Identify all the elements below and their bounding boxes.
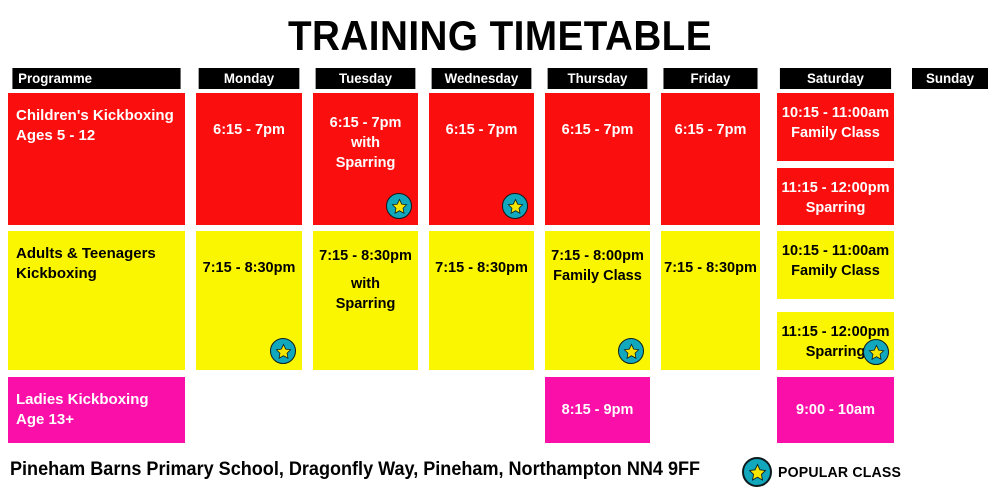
class-cell-adults-friday[interactable]: 7:15 - 8:30pm	[661, 231, 760, 370]
venue-address: Pineham Barns Primary School, Dragonfly …	[10, 458, 700, 482]
row-label-ladies-line1: Ladies Kickboxing	[16, 390, 185, 410]
row-label-adults-line2: Kickboxing	[16, 264, 185, 284]
class-time: 7:15 - 8:30pm	[661, 258, 760, 278]
timetable-grid: Programme Monday Tuesday Wednesday Thurs…	[0, 0, 1000, 500]
class-cell-adults-monday[interactable]: 7:15 - 8:30pm	[196, 231, 302, 370]
class-note1: with	[313, 133, 418, 153]
class-cell-children-friday[interactable]: 6:15 - 7pm	[661, 93, 760, 225]
popular-class-legend-label: POPULAR CLASS	[778, 464, 901, 481]
class-time: 7:15 - 8:30pm	[196, 258, 302, 278]
class-time: 6:15 - 7pm	[545, 120, 650, 140]
timetable-page: TRAINING TIMETABLE Programme Monday Tues…	[0, 0, 1000, 500]
column-header-tuesday: Tuesday	[316, 68, 416, 89]
popular-class-legend: POPULAR CLASS	[742, 457, 909, 487]
class-note1: Family Class	[545, 266, 650, 286]
class-note2: Sparring	[313, 294, 418, 314]
class-note1: with	[313, 274, 418, 294]
row-label-ladies: Ladies Kickboxing Age 13+	[8, 377, 185, 443]
class-cell-adults-tuesday[interactable]: 7:15 - 8:30pm with Sparring	[313, 231, 418, 370]
class-time: 6:15 - 7pm	[196, 120, 302, 140]
class-note1: Sparring	[777, 198, 894, 218]
class-time: 7:15 - 8:00pm	[545, 246, 650, 266]
class-time: 6:15 - 7pm	[429, 120, 534, 140]
popular-class-star-badge-icon	[618, 338, 644, 364]
class-cell-ladies-thursday[interactable]: 8:15 - 9pm	[545, 377, 650, 443]
row-label-ladies-line2: Age 13+	[16, 410, 185, 430]
column-header-monday: Monday	[199, 68, 300, 89]
popular-class-star-badge-icon	[742, 457, 772, 487]
class-time: 9:00 - 10am	[777, 400, 894, 420]
class-cell-children-saturday-sparring[interactable]: 11:15 - 12:00pm Sparring	[777, 168, 894, 225]
class-time: 6:15 - 7pm	[661, 120, 760, 140]
class-time: 7:15 - 8:30pm	[313, 246, 418, 266]
popular-class-star-badge-icon	[502, 193, 528, 219]
class-cell-ladies-saturday[interactable]: 9:00 - 10am	[777, 377, 894, 443]
class-time: 7:15 - 8:30pm	[429, 258, 534, 278]
class-time: 6:15 - 7pm	[313, 113, 418, 133]
class-note1: Family Class	[777, 123, 894, 143]
column-header-saturday: Saturday	[780, 68, 891, 89]
class-note1: Family Class	[777, 261, 894, 281]
row-label-children-line2: Ages 5 - 12	[16, 126, 185, 146]
class-cell-children-monday[interactable]: 6:15 - 7pm	[196, 93, 302, 225]
class-cell-children-saturday-morning[interactable]: 10:15 - 11:00am Family Class	[777, 93, 894, 161]
row-label-children: Children's Kickboxing Ages 5 - 12	[8, 93, 185, 225]
column-header-programme: Programme	[12, 68, 180, 89]
column-header-sunday: Sunday	[912, 68, 988, 89]
class-cell-children-tuesday[interactable]: 6:15 - 7pm with Sparring	[313, 93, 418, 225]
popular-class-star-badge-icon	[270, 338, 296, 364]
popular-class-star-badge-icon	[863, 339, 889, 365]
class-time: 11:15 - 12:00pm	[777, 178, 894, 198]
class-time: 10:15 - 11:00am	[777, 103, 894, 123]
class-cell-children-wednesday[interactable]: 6:15 - 7pm	[429, 93, 534, 225]
row-label-adults: Adults & Teenagers Kickboxing	[8, 231, 185, 370]
column-header-friday: Friday	[663, 68, 757, 89]
class-note2: Sparring	[313, 153, 418, 173]
class-time: 8:15 - 9pm	[545, 400, 650, 420]
column-header-thursday: Thursday	[548, 68, 648, 89]
class-time: 10:15 - 11:00am	[777, 241, 894, 261]
class-cell-adults-thursday[interactable]: 7:15 - 8:00pm Family Class	[545, 231, 650, 370]
class-cell-adults-saturday-sparring[interactable]: 11:15 - 12:00pm Sparring	[777, 312, 894, 370]
row-label-adults-line1: Adults & Teenagers	[16, 244, 185, 264]
popular-class-star-badge-icon	[386, 193, 412, 219]
column-header-wednesday: Wednesday	[432, 68, 532, 89]
class-cell-adults-wednesday[interactable]: 7:15 - 8:30pm	[429, 231, 534, 370]
class-cell-children-thursday[interactable]: 6:15 - 7pm	[545, 93, 650, 225]
row-label-children-line1: Children's Kickboxing	[16, 106, 185, 126]
class-cell-adults-saturday-morning[interactable]: 10:15 - 11:00am Family Class	[777, 231, 894, 299]
